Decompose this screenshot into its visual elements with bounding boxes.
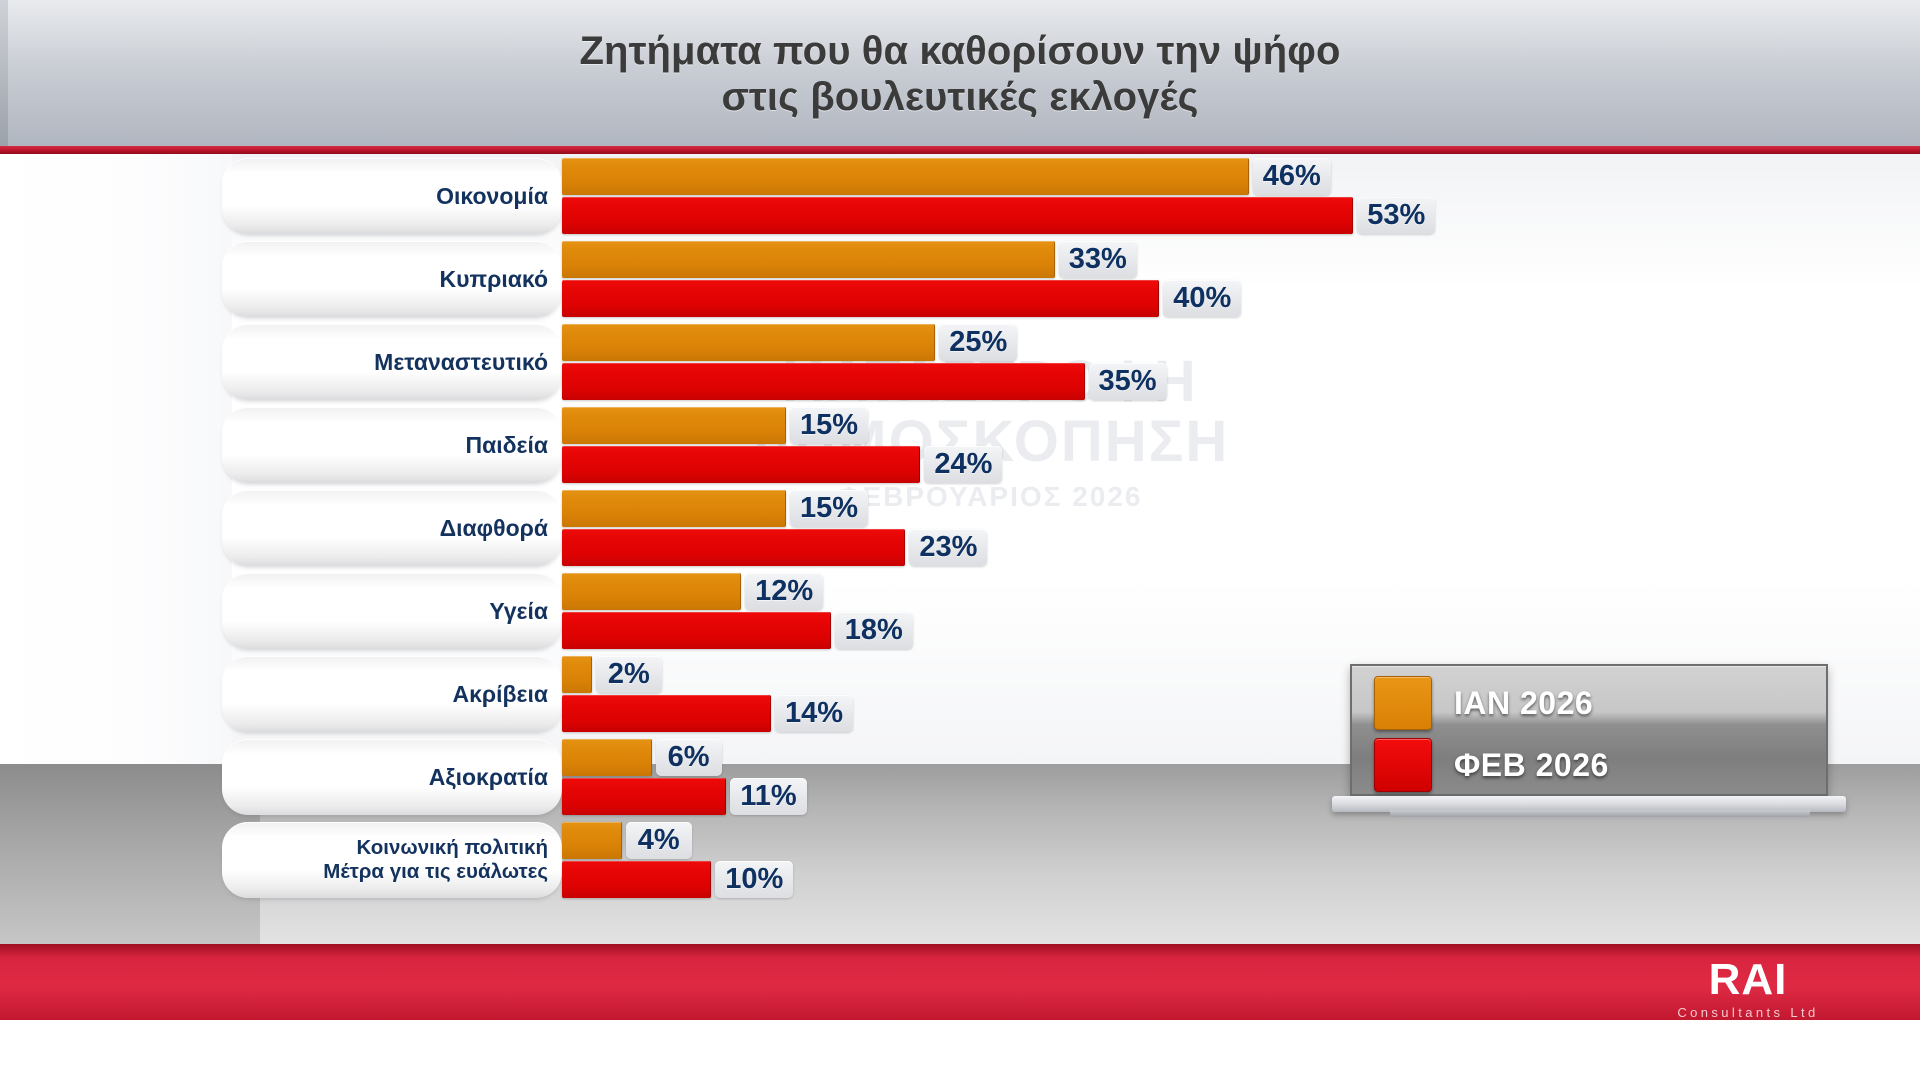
- bar-feb: [562, 446, 920, 483]
- chart-canvas: Ζητήματα που θα καθορίσουν την ψήφο στις…: [0, 0, 1920, 1080]
- category-label-pill: Διαφθορά: [222, 490, 562, 566]
- logo-tagline: Consultants Ltd: [1628, 1005, 1868, 1020]
- bar-jan: [562, 739, 652, 776]
- bar-value-label: 15%: [790, 407, 868, 444]
- category-label: Οικονομία: [436, 183, 548, 210]
- bar-feb: [562, 280, 1159, 317]
- header-accent-line: [0, 146, 1920, 154]
- category-label-pill: Παιδεία: [222, 407, 562, 483]
- bar-value-label: 14%: [775, 695, 853, 732]
- bar-value-label: 53%: [1357, 197, 1435, 234]
- legend-foot: [1390, 810, 1810, 817]
- footer-white-strip: [0, 1020, 1920, 1080]
- bar-jan: [562, 324, 935, 361]
- legend-label: ΦΕΒ 2026: [1454, 747, 1609, 784]
- legend-item-jan[interactable]: ΙΑΝ 2026: [1374, 676, 1593, 730]
- category-label: Διαφθορά: [440, 515, 548, 542]
- bar-jan: [562, 573, 741, 610]
- category-label: Κυπριακό: [440, 266, 548, 293]
- bar-feb: [562, 778, 726, 815]
- category-label-pill: Κυπριακό: [222, 241, 562, 317]
- category-label-pill: Αξιοκρατία: [222, 739, 562, 815]
- bar-feb: [562, 612, 831, 649]
- bar-value-label: 11%: [730, 778, 806, 815]
- bar-value-label: 18%: [835, 612, 913, 649]
- bar-feb: [562, 363, 1085, 400]
- bar-chart: Οικονομία46%53%Κυπριακό33%40%Μεταναστευτ…: [0, 154, 1920, 944]
- title-line-2: στις βουλευτικές εκλογές: [0, 74, 1920, 120]
- bar-value-label: 2%: [596, 656, 662, 693]
- title-line-1: Ζητήματα που θα καθορίσουν την ψήφο: [580, 29, 1341, 73]
- chart-legend: ΙΑΝ 2026ΦΕΒ 2026: [1350, 664, 1828, 796]
- bar-jan: [562, 158, 1249, 195]
- category-label: Κοινωνική πολιτική Μέτρα για τις ευάλωτε…: [323, 836, 548, 884]
- legend-swatch-jan-icon: [1374, 676, 1432, 730]
- bar-value-label: 6%: [656, 739, 722, 776]
- category-label-pill: Κοινωνική πολιτική Μέτρα για τις ευάλωτε…: [222, 822, 562, 898]
- category-label-pill: Υγεία: [222, 573, 562, 649]
- rai-logo: RAI Consultants Ltd: [1628, 958, 1868, 1020]
- category-label: Αξιοκρατία: [429, 764, 548, 791]
- category-label: Μεταναστευτικό: [374, 349, 548, 376]
- bar-value-label: 25%: [939, 324, 1017, 361]
- bar-value-label: 40%: [1163, 280, 1241, 317]
- bar-value-label: 12%: [745, 573, 823, 610]
- bar-feb: [562, 695, 771, 732]
- bar-value-label: 33%: [1059, 241, 1137, 278]
- category-label-pill: Μεταναστευτικό: [222, 324, 562, 400]
- bar-value-label: 10%: [715, 861, 793, 898]
- bar-jan: [562, 241, 1055, 278]
- bar-value-label: 23%: [909, 529, 987, 566]
- legend-swatch-feb-icon: [1374, 738, 1432, 792]
- bar-jan: [562, 822, 622, 859]
- bar-value-label: 46%: [1253, 158, 1331, 195]
- bar-value-label: 24%: [924, 446, 1002, 483]
- category-label-pill: Οικονομία: [222, 158, 562, 234]
- bar-jan: [562, 490, 786, 527]
- bar-feb: [562, 861, 711, 898]
- bar-value-label: 4%: [626, 822, 692, 859]
- category-label: Ακρίβεια: [452, 681, 548, 708]
- bar-value-label: 35%: [1089, 363, 1167, 400]
- bar-value-label: 15%: [790, 490, 868, 527]
- logo-wordmark: RAI: [1628, 958, 1868, 1002]
- bar-feb: [562, 529, 905, 566]
- page-title: Ζητήματα που θα καθορίσουν την ψήφο στις…: [0, 28, 1920, 121]
- legend-label: ΙΑΝ 2026: [1454, 685, 1593, 722]
- category-label-pill: Ακρίβεια: [222, 656, 562, 732]
- bar-jan: [562, 656, 592, 693]
- category-label: Υγεία: [489, 598, 548, 625]
- category-label: Παιδεία: [465, 432, 548, 459]
- legend-item-feb[interactable]: ΦΕΒ 2026: [1374, 738, 1609, 792]
- bar-feb: [562, 197, 1353, 234]
- bar-jan: [562, 407, 786, 444]
